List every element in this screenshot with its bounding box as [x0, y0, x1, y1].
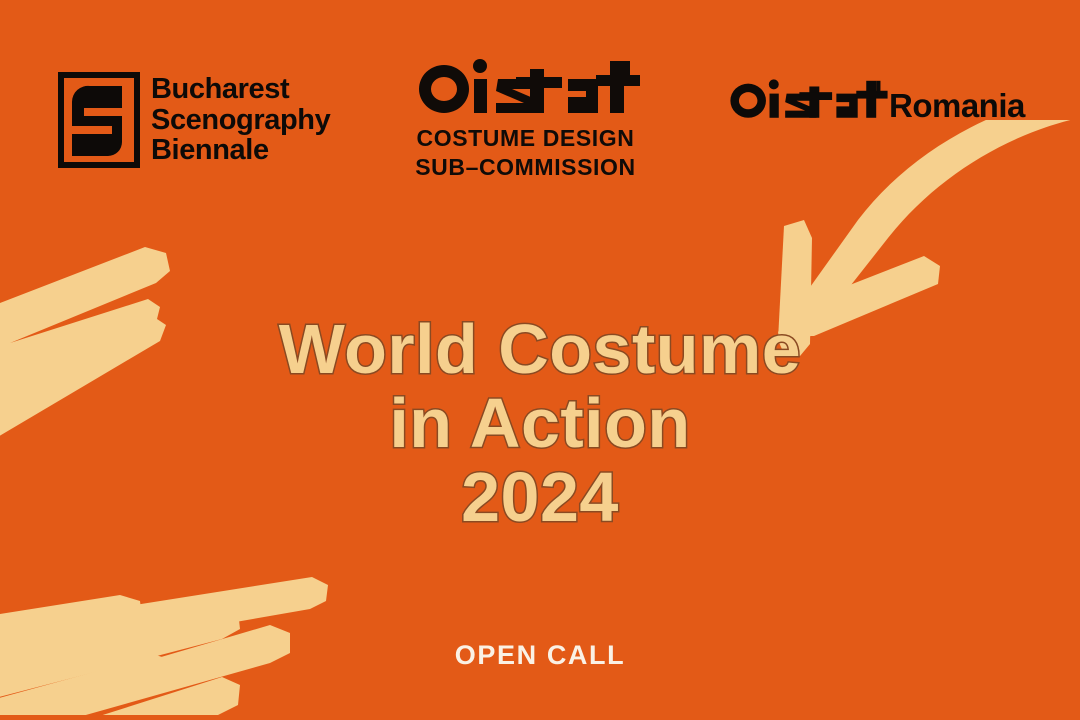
bucharest-scenography-biennale-mark — [58, 72, 140, 168]
page-title: World Costume in Action 2024 — [0, 312, 1080, 534]
open-call-label: OPEN CALL — [0, 640, 1080, 671]
oistat-romania-label: Romania — [889, 89, 1025, 122]
headline-line-2: in Action — [0, 386, 1080, 460]
oistat-costume-design-line-2: SUB–COMMISSION — [398, 153, 653, 182]
headline-line-3: 2024 — [0, 460, 1080, 534]
poster-canvas: Bucharest Scenography Biennale — [0, 0, 1080, 720]
oistat-costume-design-logo: COSTUME DESIGN SUB–COMMISSION — [398, 55, 653, 183]
bucharest-scenography-biennale-logo: Bucharest Scenography Biennale — [58, 72, 330, 168]
oistat-costume-design-line-1: COSTUME DESIGN — [398, 124, 653, 153]
bsb-line-3: Biennale — [151, 135, 330, 166]
oistat-wordmark — [410, 55, 642, 121]
oistat-wordmark — [724, 75, 889, 125]
headline-line-1: World Costume — [0, 312, 1080, 386]
oistat-romania-logo: Romania — [724, 75, 1025, 125]
logo-row: Bucharest Scenography Biennale — [0, 55, 1080, 205]
bsb-line-1: Bucharest — [151, 74, 330, 105]
bsb-line-2: Scenography — [151, 105, 330, 136]
bucharest-scenography-biennale-wordmark: Bucharest Scenography Biennale — [151, 74, 330, 166]
